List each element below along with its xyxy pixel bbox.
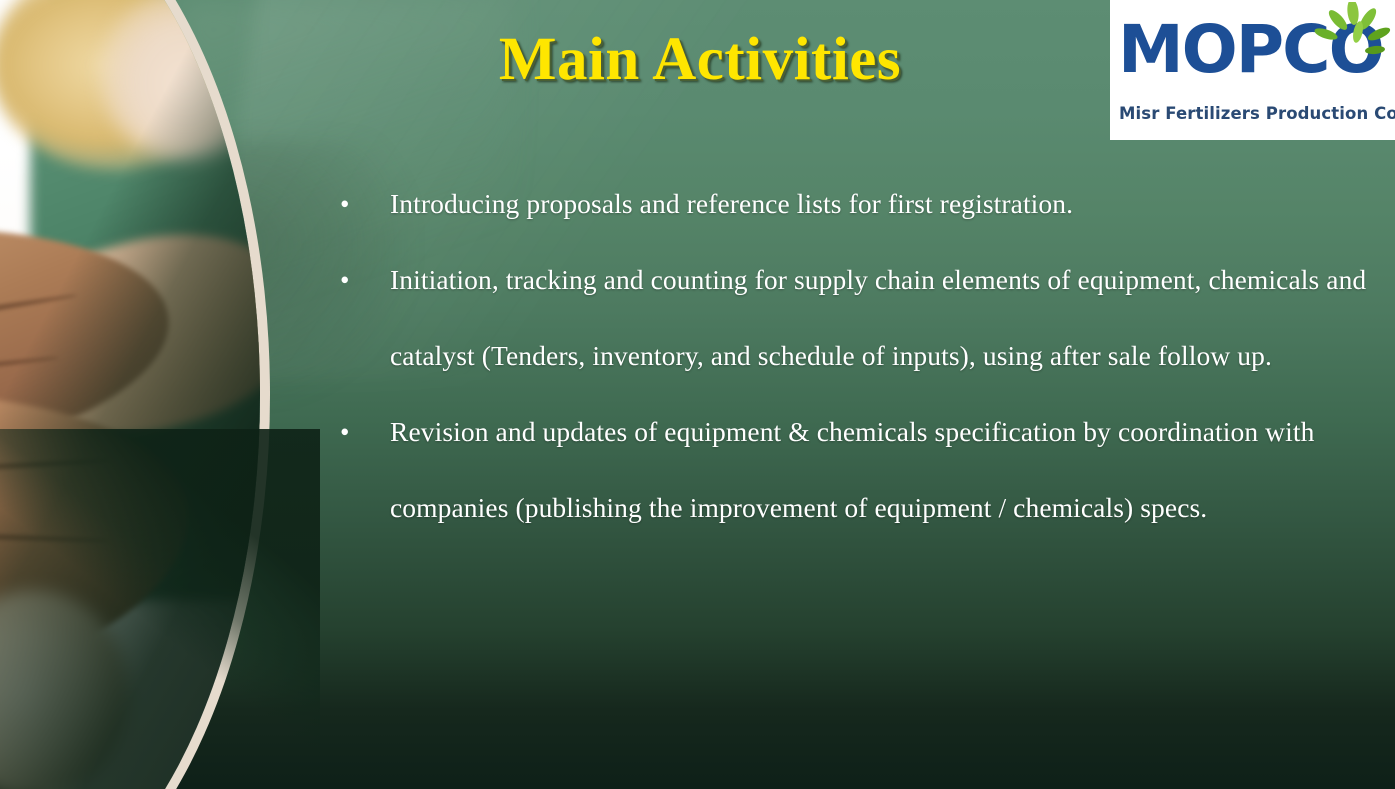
bullet-icon: • bbox=[332, 394, 390, 470]
activities-list: • Introducing proposals and reference li… bbox=[332, 166, 1372, 546]
list-item-text: Revision and updates of equipment & chem… bbox=[390, 394, 1372, 546]
hands-photo bbox=[0, 0, 260, 789]
leaf-icon bbox=[1313, 2, 1391, 66]
photo-green-overlay bbox=[0, 0, 260, 789]
page-title: Main Activities bbox=[300, 28, 1100, 92]
slide: Main Activities MOPCO Misr Fertilizers P… bbox=[0, 0, 1395, 789]
list-item: • Introducing proposals and reference li… bbox=[332, 166, 1372, 242]
bullet-icon: • bbox=[332, 166, 390, 242]
list-item-text: Introducing proposals and reference list… bbox=[390, 166, 1372, 242]
list-item-text: Initiation, tracking and counting for su… bbox=[390, 242, 1372, 394]
bullet-icon: • bbox=[332, 242, 390, 318]
logo-tagline: Misr Fertilizers Production Company bbox=[1119, 104, 1395, 123]
mopco-logo: MOPCO Misr Fertilizers Production Compan… bbox=[1110, 0, 1395, 140]
list-item: • Revision and updates of equipment & ch… bbox=[332, 394, 1372, 546]
list-item: • Initiation, tracking and counting for … bbox=[332, 242, 1372, 394]
